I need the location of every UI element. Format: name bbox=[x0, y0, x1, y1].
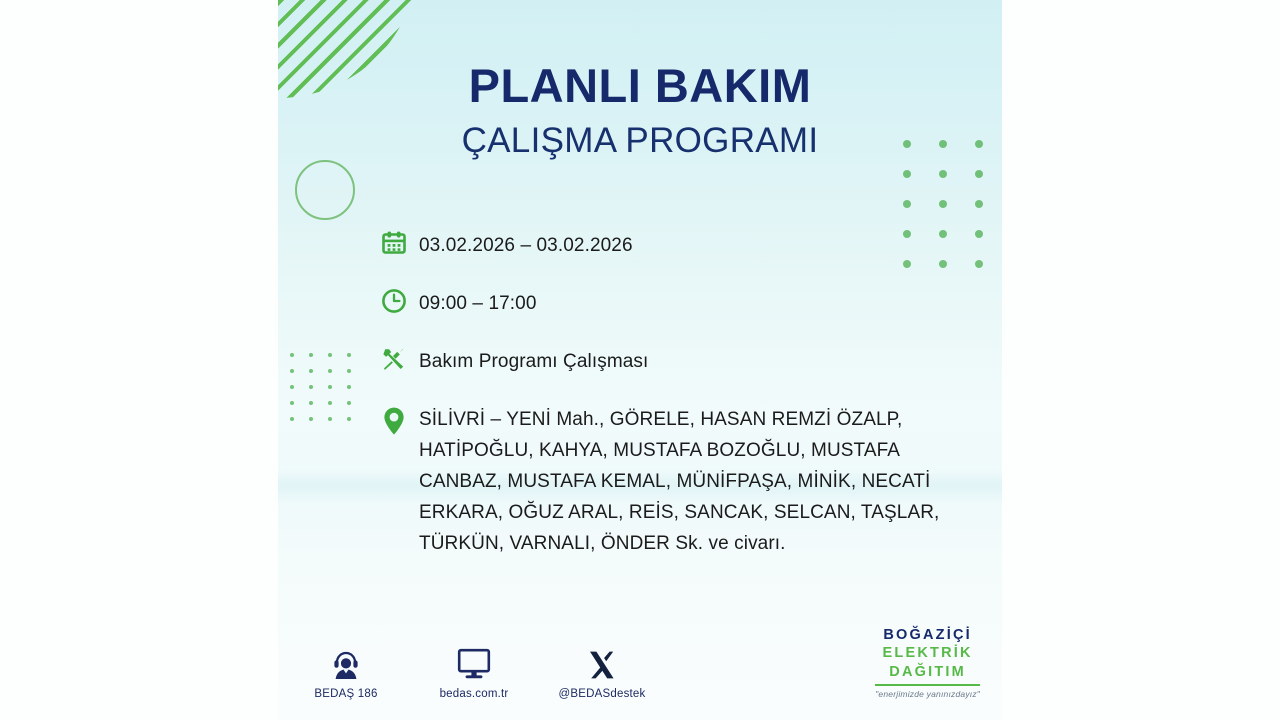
brand-line-2: ELEKTRİK bbox=[875, 646, 980, 661]
poster-canvas: PLANLI BAKIM ÇALIŞMA PROGRAMI bbox=[0, 0, 1280, 720]
work-type-label: Bakım Programı Çalışması bbox=[419, 344, 648, 378]
brand-line-3: DAĞITIM bbox=[875, 665, 980, 680]
brand-tagline: "enerjimizde yanınızdayız" bbox=[875, 690, 980, 699]
affected-streets: SİLİVRİ – YENİ Mah., GÖRELE, HASAN REMZİ… bbox=[419, 402, 981, 560]
page-subtitle: ÇALIŞMA PROGRAMI bbox=[278, 123, 1002, 158]
contact-website[interactable]: bedas.com.tr bbox=[428, 641, 520, 700]
contact-website-label: bedas.com.tr bbox=[428, 688, 520, 700]
outage-date-range: 03.02.2026 – 03.02.2026 bbox=[419, 228, 633, 262]
circle-outline-decoration bbox=[295, 160, 355, 220]
outage-time-range: 09:00 – 17:00 bbox=[419, 286, 537, 320]
contact-social-label: @BEDASdestek bbox=[556, 688, 648, 700]
poster-footer: BEDAŞ 186 bedas.com.tr bbox=[278, 630, 1002, 710]
headset-operator-icon bbox=[300, 641, 392, 681]
brand-divider bbox=[875, 684, 980, 686]
location-pin-icon bbox=[381, 402, 419, 440]
detail-row-work-type: Bakım Programı Çalışması bbox=[381, 344, 981, 380]
calendar-icon bbox=[381, 228, 419, 264]
tools-icon bbox=[381, 344, 419, 380]
outage-details: 03.02.2026 – 03.02.2026 09:00 – 17:00 bbox=[381, 228, 981, 560]
detail-row-location: SİLİVRİ – YENİ Mah., GÖRELE, HASAN REMZİ… bbox=[381, 402, 981, 560]
contact-phone[interactable]: BEDAŞ 186 bbox=[300, 641, 392, 700]
announcement-poster: PLANLI BAKIM ÇALIŞMA PROGRAMI bbox=[278, 0, 1002, 720]
brand-line-1: BOĞAZİÇİ bbox=[875, 628, 980, 643]
contact-channels: BEDAŞ 186 bedas.com.tr bbox=[300, 641, 648, 700]
dot-grid-left-decoration bbox=[290, 353, 366, 433]
detail-row-date: 03.02.2026 – 03.02.2026 bbox=[381, 228, 981, 264]
monitor-icon bbox=[428, 641, 520, 681]
x-social-icon bbox=[556, 641, 648, 681]
poster-heading: PLANLI BAKIM ÇALIŞMA PROGRAMI bbox=[278, 62, 1002, 158]
page-title: PLANLI BAKIM bbox=[278, 62, 1002, 109]
contact-social[interactable]: @BEDASdestek bbox=[556, 641, 648, 700]
contact-phone-label: BEDAŞ 186 bbox=[300, 688, 392, 700]
detail-row-time: 09:00 – 17:00 bbox=[381, 286, 981, 322]
clock-icon bbox=[381, 286, 419, 322]
bedas-logo: BOĞAZİÇİ ELEKTRİK DAĞITIM "enerjimizde y… bbox=[875, 628, 980, 699]
